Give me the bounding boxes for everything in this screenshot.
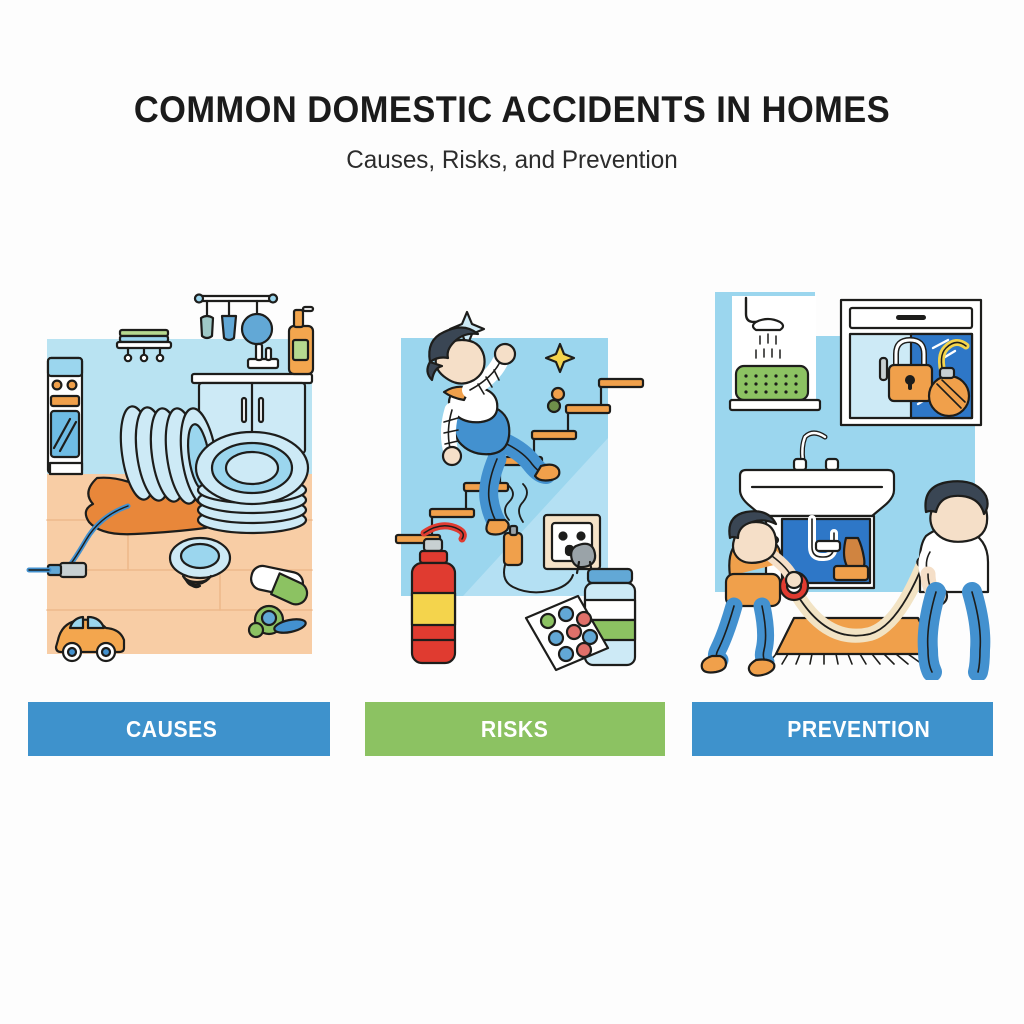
falling-pill: [552, 388, 564, 400]
section-label-risks[interactable]: RISKS: [365, 702, 665, 756]
falling-pill: [548, 400, 560, 412]
shower-icon: [730, 296, 820, 410]
infographic-header: COMMON DOMESTIC ACCIDENTS IN HOMES Cause…: [0, 88, 1024, 176]
section-label-causes[interactable]: CAUSES: [28, 702, 330, 756]
section-label-prevention[interactable]: PREVENTION: [692, 702, 993, 756]
illustration-panel-risks: [358, 288, 678, 680]
section-label-text: RISKS: [481, 716, 548, 743]
plug-icon: [571, 544, 595, 567]
page-title: COMMON DOMESTIC ACCIDENTS IN HOMES: [36, 88, 988, 132]
illustration-panel-causes: [20, 288, 340, 680]
hanging-utensils-icon: [195, 295, 277, 345]
locked-cabinet-icon: [841, 300, 981, 425]
spray-bottle-icon: [289, 307, 313, 374]
page-subtitle: Causes, Risks, and Prevention: [15, 144, 1008, 176]
hanging-shelf-icon: [117, 330, 171, 361]
section-label-text: CAUSES: [126, 716, 217, 743]
wall-outlet-icon: [544, 515, 600, 573]
stacked-plates: [196, 432, 308, 533]
stove-icon: [48, 358, 82, 474]
adult-person: [920, 481, 988, 672]
section-label-text: PREVENTION: [788, 716, 931, 743]
illustration-panel-prevention: [690, 288, 1010, 680]
